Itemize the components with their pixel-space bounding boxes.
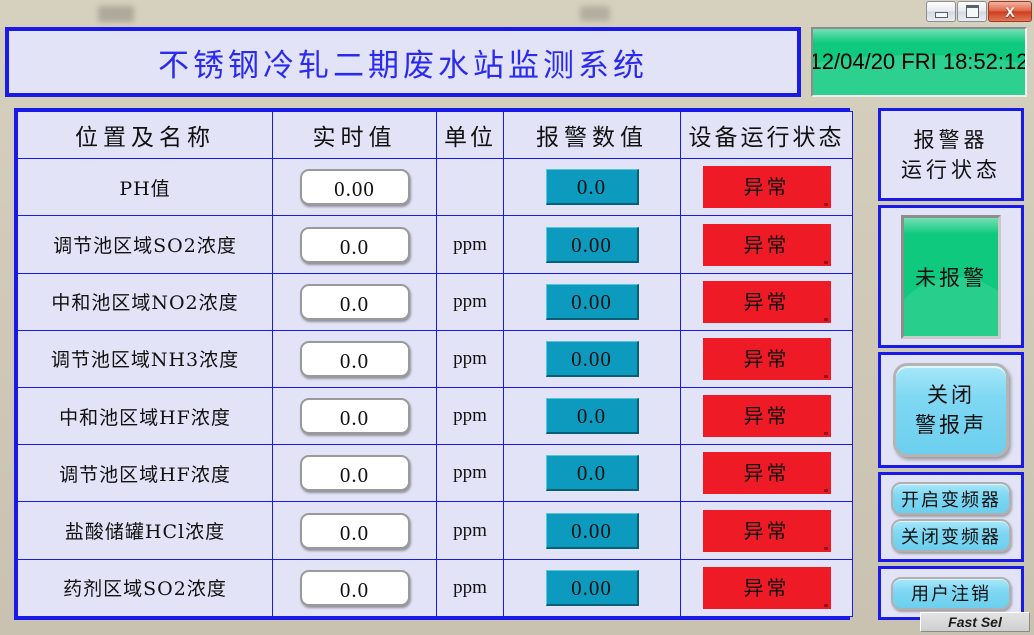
maximize-icon [966,5,979,18]
row-status-cell: 异常 [681,559,853,616]
row-unit-cell: ppm [437,273,504,330]
alarm-setpoint-field[interactable]: 0.0 [546,398,639,434]
measurements-table-panel: 位置及名称 实时值 单位 报警数值 设备运行状态 PH值 0.00 [14,108,850,620]
row-status-cell: 异常 [681,502,853,559]
row-name-label: 盐酸储罐HCl浓度 [65,521,225,543]
column-header-alarm: 报警数值 [504,112,681,159]
row-alarm-cell: 0.00 [504,216,681,273]
alarm-setpoint-field[interactable]: 0.0 [546,169,639,205]
row-name-label: 调节池区域SO2浓度 [53,235,237,257]
unit-label: ppm [453,405,487,426]
row-value-cell: 0.0 [273,388,437,445]
status-badge: 异常 [703,510,831,552]
row-value-cell: 0.0 [273,502,437,559]
close-button[interactable]: X [988,1,1032,22]
table-row: 中和池区域HF浓度 0.0 ppm 0.0 异常 [18,388,853,445]
unit-label: ppm [453,291,487,312]
alarm-setpoint-field[interactable]: 0.00 [546,227,639,263]
fast-sel-label: Fast Sel [948,614,1002,630]
row-value-cell: 0.00 [273,159,437,216]
column-header-label: 单位 [444,125,496,151]
row-alarm-cell: 0.0 [504,159,681,216]
sidebar: 报警器 运行状态 未报警 关闭 警报声 开启变频器 关闭变频器 [878,108,1024,620]
table-row: 调节池区域NH3浓度 0.0 ppm 0.00 异常 [18,330,853,387]
table-row: 盐酸储罐HCl浓度 0.0 ppm 0.00 异常 [18,502,853,559]
minimize-icon [935,12,948,18]
table-row: 调节池区域HF浓度 0.0 ppm 0.0 异常 [18,445,853,502]
vfd-off-label: 关闭变频器 [901,523,1001,549]
status-badge: 异常 [703,281,831,323]
silence-alarm-label: 关闭 警报声 [915,380,987,440]
row-alarm-cell: 0.00 [504,502,681,559]
unit-label: ppm [453,234,487,255]
alarm-lamp-panel: 未报警 [878,205,1024,348]
row-value-cell: 0.0 [273,559,437,616]
column-header-label: 设备运行状态 [689,125,845,151]
header-bar: 不锈钢冷轧二期废水站监测系统 12/04/20 FRI 18:52:12 [5,27,1027,97]
maximize-button[interactable] [957,1,987,22]
row-unit-cell: ppm [437,216,504,273]
fast-sel-button[interactable]: Fast Sel [920,612,1030,632]
realtime-value-readout: 0.0 [300,227,410,263]
unit-label: ppm [453,577,487,598]
status-badge: 异常 [703,452,831,494]
logout-button[interactable]: 用户注销 [891,577,1011,610]
vfd-on-label: 开启变频器 [901,486,1001,512]
row-alarm-cell: 0.0 [504,445,681,502]
row-name-label: 中和池区域HF浓度 [59,407,231,429]
close-icon: X [1005,5,1014,19]
row-status-cell: 异常 [681,216,853,273]
column-header-label: 报警数值 [536,125,648,151]
realtime-value-readout: 0.00 [300,169,410,205]
realtime-value-readout: 0.0 [300,570,410,606]
row-value-cell: 0.0 [273,216,437,273]
row-name-cell: 调节池区域HF浓度 [18,445,273,502]
column-header-value: 实时值 [273,112,437,159]
realtime-value-readout: 0.0 [300,284,410,320]
column-header-name: 位置及名称 [18,112,273,159]
column-header-label: 位置及名称 [75,125,215,151]
table-row: 调节池区域SO2浓度 0.0 ppm 0.00 异常 [18,216,853,273]
row-alarm-cell: 0.00 [504,559,681,616]
application-root: 不锈钢冷轧二期废水站监测系统 12/04/20 FRI 18:52:12 位置及… [0,25,1029,635]
alarm-setpoint-field[interactable]: 0.0 [546,455,639,491]
row-unit-cell: ppm [437,559,504,616]
row-value-cell: 0.0 [273,273,437,330]
column-header-unit: 单位 [437,112,504,159]
row-name-cell: PH值 [18,159,273,216]
status-badge: 异常 [703,338,831,380]
vfd-on-button[interactable]: 开启变频器 [891,482,1011,515]
row-status-cell: 异常 [681,273,853,330]
row-alarm-cell: 0.00 [504,273,681,330]
vfd-off-button[interactable]: 关闭变频器 [891,519,1011,552]
status-badge: 异常 [703,567,831,609]
silence-alarm-line2: 警报声 [915,413,987,437]
unit-label: ppm [453,520,487,541]
row-name-label: 中和池区域NO2浓度 [51,292,238,314]
row-name-cell: 中和池区域NO2浓度 [18,273,273,330]
row-value-cell: 0.0 [273,330,437,387]
silence-alarm-button[interactable]: 关闭 警报声 [893,363,1009,457]
realtime-value-readout: 0.0 [300,513,410,549]
row-name-cell: 药剂区域SO2浓度 [18,559,273,616]
status-badge: 异常 [703,395,831,437]
row-name-label: 调节池区域NH3浓度 [51,349,239,371]
silence-alarm-line1: 关闭 [927,383,975,407]
alarm-setpoint-field[interactable]: 0.00 [546,341,639,377]
unit-label: ppm [453,348,487,369]
alarm-panel-title: 报警器 运行状态 [878,108,1024,201]
minimize-button[interactable] [926,1,956,22]
alarm-lamp-label: 未报警 [915,262,987,292]
status-badge: 异常 [703,224,831,266]
row-name-cell: 中和池区域HF浓度 [18,388,273,445]
row-unit-cell [437,159,504,216]
datetime-display: 12/04/20 FRI 18:52:12 [811,27,1027,97]
row-status-cell: 异常 [681,388,853,445]
realtime-value-readout: 0.0 [300,341,410,377]
table-header-row: 位置及名称 实时值 单位 报警数值 设备运行状态 [18,112,853,159]
title-panel: 不锈钢冷轧二期废水站监测系统 [5,27,801,97]
page-title: 不锈钢冷轧二期废水站监测系统 [158,40,648,85]
column-header-status: 设备运行状态 [681,112,853,159]
row-unit-cell: ppm [437,445,504,502]
alarm-panel-title-line2: 运行状态 [901,158,1001,182]
row-value-cell: 0.0 [273,445,437,502]
row-status-cell: 异常 [681,330,853,387]
realtime-value-readout: 0.0 [300,398,410,434]
unit-label: ppm [453,462,487,483]
window-controls: X [925,1,1032,25]
alarm-status-lamp: 未报警 [901,215,1001,339]
alarm-panel-title-text: 报警器 运行状态 [901,125,1001,185]
desktop-artifact [98,6,134,22]
row-name-cell: 调节池区域NH3浓度 [18,330,273,387]
vfd-control-panel: 开启变频器 关闭变频器 [878,472,1024,562]
alarm-setpoint-field[interactable]: 0.00 [546,284,639,320]
desktop-artifact [580,6,610,21]
logout-label: 用户注销 [911,580,991,606]
row-name-cell: 调节池区域SO2浓度 [18,216,273,273]
row-unit-cell: ppm [437,502,504,559]
row-unit-cell: ppm [437,330,504,387]
measurements-table: 位置及名称 实时值 单位 报警数值 设备运行状态 PH值 0.00 [17,111,853,617]
row-unit-cell: ppm [437,388,504,445]
row-status-cell: 异常 [681,159,853,216]
row-alarm-cell: 0.00 [504,330,681,387]
realtime-value-readout: 0.0 [300,455,410,491]
alarm-panel-title-line1: 报警器 [914,128,989,152]
silence-alarm-panel: 关闭 警报声 [878,352,1024,468]
row-name-cell: 盐酸储罐HCl浓度 [18,502,273,559]
row-alarm-cell: 0.0 [504,388,681,445]
alarm-setpoint-field[interactable]: 0.00 [546,570,639,606]
table-row: PH值 0.00 0.0 异常 [18,159,853,216]
row-name-label: PH值 [119,178,170,200]
table-row: 中和池区域NO2浓度 0.0 ppm 0.00 异常 [18,273,853,330]
alarm-setpoint-field[interactable]: 0.00 [546,513,639,549]
table-row: 药剂区域SO2浓度 0.0 ppm 0.00 异常 [18,559,853,616]
row-name-label: 药剂区域SO2浓度 [63,578,227,600]
status-badge: 异常 [703,166,831,208]
datetime-text: 12/04/20 FRI 18:52:12 [811,49,1027,75]
row-status-cell: 异常 [681,445,853,502]
row-name-label: 调节池区域HF浓度 [59,464,231,486]
column-header-label: 实时值 [313,125,397,151]
